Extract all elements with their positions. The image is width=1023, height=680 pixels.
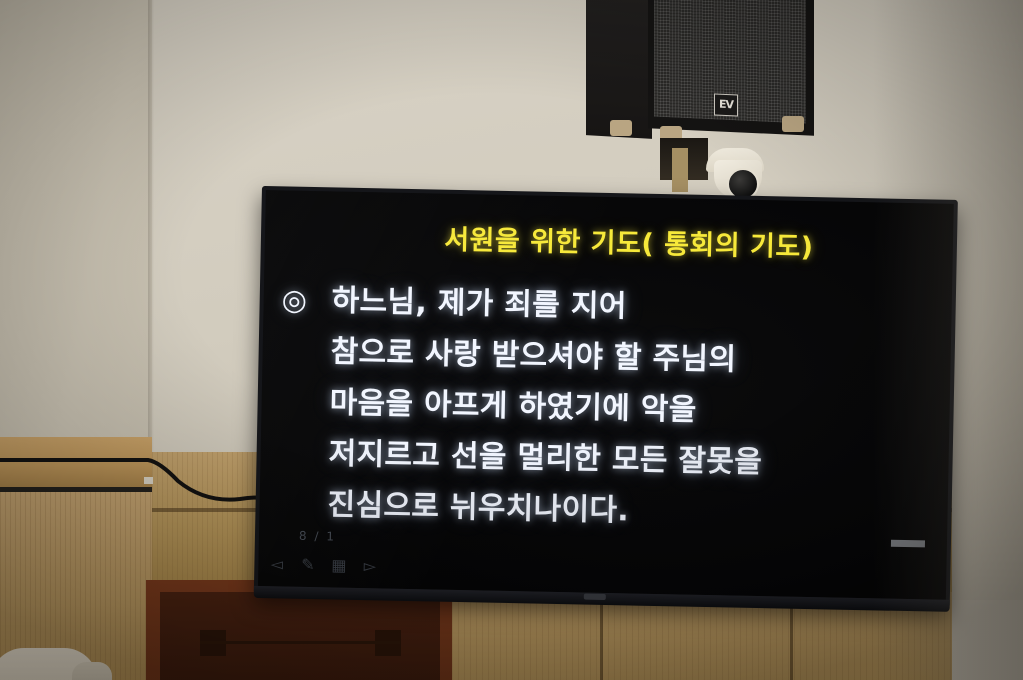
slide-line-text: 하느님, 제가 죄를 지어	[331, 275, 627, 332]
tv-screen[interactable]: 서원을 위한 기도( 통회의 기도) ◎ 하느님, 제가 죄를 지어 참으로 사…	[258, 190, 954, 600]
slide-line-text: 진심으로 뉘우치나이다.	[327, 479, 629, 536]
pen-tool-icon[interactable]: ✎	[299, 556, 316, 573]
wood-cap-rail	[0, 437, 152, 489]
slide-line-text: 저지르고 선을 멀리한 모든 잘못을	[328, 428, 763, 488]
wood-panel-seam	[600, 592, 603, 680]
bullet-icon: ◎	[281, 274, 332, 326]
bullet-spacer	[279, 411, 329, 412]
speaker-side-panel	[586, 0, 652, 139]
tv-brand-plate	[584, 594, 606, 600]
speaker-mount-strap	[672, 148, 688, 192]
slide-title: 서원을 위한 기도( 통회의 기도)	[265, 214, 954, 267]
bullet-spacer	[278, 462, 328, 463]
slideshow-control-bar[interactable]: ◅ ✎ ▦ ▻	[268, 555, 378, 574]
room-scene-photograph: EV 서원을 위한 기도( 통회의 기도) ◎ 하느님, 제가 죄를 지어 참으…	[0, 0, 1023, 680]
slide-line-text: 참으로 사랑 받으셔야 할 주님의	[330, 326, 737, 385]
electro-voice-speaker: EV	[586, 0, 814, 146]
slide-number-indicator: 8 / 1	[299, 529, 336, 544]
slide-menu-icon[interactable]: ▦	[330, 556, 347, 573]
slide-body-text: ◎ 하느님, 제가 죄를 지어 참으로 사랑 받으셔야 할 주님의 마음을 아프…	[277, 274, 942, 542]
previous-slide-icon[interactable]: ◅	[268, 555, 285, 572]
wall-corner-edge	[148, 0, 154, 470]
speaker-foot	[782, 116, 804, 132]
wall-shadow	[873, 0, 1023, 680]
cabinet-rail	[200, 641, 400, 644]
bullet-spacer	[277, 513, 327, 514]
slide-line-text: 마음을 아프게 하였기에 악을	[329, 377, 697, 435]
wall-left-section	[0, 0, 152, 470]
bullet-spacer	[281, 360, 331, 361]
ev-brand-badge: EV	[714, 93, 738, 116]
speaker-foot	[610, 120, 632, 136]
next-slide-icon[interactable]: ▻	[361, 557, 378, 574]
foreground-chair-object-secondary	[72, 662, 112, 680]
television[interactable]: 서원을 위한 기도( 통회의 기도) ◎ 하느님, 제가 죄를 지어 참으로 사…	[254, 186, 958, 612]
